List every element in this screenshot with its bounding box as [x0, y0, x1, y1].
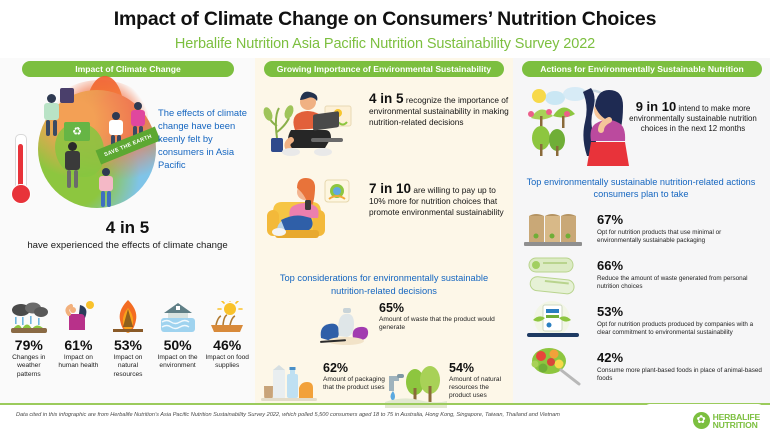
stat-value: 61% [54, 337, 104, 353]
paper-bags-icon [521, 208, 593, 250]
left-headline-subtext: have experienced the effects of climate … [0, 240, 255, 251]
water-tap-trees-icon [385, 362, 447, 408]
forest-fire-icon [103, 295, 153, 335]
action-item: 66% Reduce the amount of waste generated… [521, 254, 767, 296]
action-item: 42% Consume more plant-based foods in pl… [521, 346, 767, 388]
consideration-value: 62% [323, 362, 387, 375]
left-column: ♻ SAVE THE EARTH The effects o [0, 80, 255, 215]
consideration-item: 54% Amount of natural resources the prod… [385, 362, 511, 408]
stat-label: Impact on the environment [153, 354, 203, 371]
flooded-house-icon [153, 295, 203, 335]
stat-value: 46% [202, 337, 252, 353]
stat-label: Impact on natural resources [103, 354, 153, 379]
reusable-containers-icon [521, 254, 593, 296]
consideration-label: Amount of packaging that the product use… [323, 376, 387, 392]
infographic-page: Impact of Climate Change on Consumers’ N… [0, 0, 770, 440]
stat-item: 79% Changes in weather patterns [4, 295, 54, 379]
middle-statement-2: 7 in 10 are willing to pay up to 10% mor… [261, 172, 511, 252]
action-label: Consume more plant-based foods in place … [597, 367, 767, 383]
consideration-label: Amount of waste that the product would g… [379, 316, 505, 332]
waste-bags-icon [315, 302, 377, 348]
section-header-actions: Actions for Environmentally Sustainable … [522, 61, 762, 77]
consideration-item: 65% Amount of waste that the product wou… [315, 302, 505, 348]
action-value: 66% [597, 259, 767, 273]
stat-label: Impact on food supplies [202, 354, 252, 371]
stat-value: 53% [103, 337, 153, 353]
action-item: 53% Opt for nutrition products produced … [521, 300, 767, 342]
action-label: Opt for nutrition products produced by c… [597, 321, 767, 337]
section-header-growing-importance: Growing Importance of Environmental Sust… [264, 61, 504, 77]
left-column-blurb: The effects of climate change have been … [158, 106, 254, 171]
right-statement-text: 9 in 10 intend to make more environmenta… [625, 102, 761, 134]
person-with-laptop-icon [261, 82, 369, 162]
stat-value: 50% [153, 337, 203, 353]
footnote-text: Data cited in this infographic are from … [16, 411, 616, 419]
action-item: 67% Opt for nutrition products that use … [521, 208, 767, 250]
action-label: Reduce the amount of waste generated fro… [597, 275, 767, 291]
section-header-impact-of-climate-change: Impact of Climate Change [22, 61, 234, 77]
stat-item: 61% Impact on human health [54, 295, 104, 379]
middle-statement-1: 4 in 5 recognize the importance of envir… [261, 82, 511, 162]
stat-item: 53% Impact on natural resources [103, 295, 153, 379]
header: Impact of Climate Change on Consumers’ N… [0, 0, 770, 58]
herbalife-nutrition-logo: ✿ HERBALIFE NUTRITION [693, 412, 760, 429]
action-label: Opt for nutrition products that use mini… [597, 229, 767, 245]
stat-item: 50% Impact on the environment [153, 295, 203, 379]
packaging-bottles-icon [259, 362, 321, 408]
salad-bowl-icon [521, 346, 593, 388]
stat-item: 46% Impact on food supplies [202, 295, 252, 379]
action-value: 53% [597, 305, 767, 319]
stat-value: 79% [4, 337, 54, 353]
consideration-value: 65% [379, 302, 505, 315]
middle-statement-2-stat: 7 in 10 [369, 181, 411, 196]
eco-product-pack-icon [521, 300, 593, 342]
page-title: Impact of Climate Change on Consumers’ N… [0, 0, 770, 31]
stat-label: Impact on human health [54, 354, 104, 371]
middle-statement-1-text: 4 in 5 recognize the importance of envir… [369, 82, 511, 127]
thermometer-icon [10, 134, 30, 206]
recycle-sign-icon: ♻ [64, 122, 90, 141]
stat-label: Changes in weather patterns [4, 354, 54, 379]
herbalife-leaf-icon: ✿ [693, 412, 710, 429]
right-statement-stat: 9 in 10 [636, 99, 676, 114]
action-value: 67% [597, 213, 767, 227]
middle-statement-1-stat: 4 in 5 [369, 91, 404, 106]
storm-clouds-icon [4, 295, 54, 335]
dry-crops-sun-icon [202, 295, 252, 335]
left-headline-stat: 4 in 5 [0, 218, 255, 238]
action-value: 42% [597, 351, 767, 365]
logo-line-2: NUTRITION [713, 421, 760, 429]
person-heat-icon [54, 295, 104, 335]
consideration-value: 54% [449, 362, 511, 375]
person-on-sofa-phone-icon [261, 172, 369, 252]
page-subtitle: Herbalife Nutrition Asia Pacific Nutriti… [0, 31, 770, 52]
middle-statement-2-text: 7 in 10 are willing to pay up to 10% mor… [369, 172, 511, 217]
middle-subheading: Top considerations for environmentally s… [263, 272, 505, 297]
consideration-item: 62% Amount of packaging that the product… [259, 362, 387, 408]
right-subheading: Top environmentally sustainable nutritio… [515, 176, 767, 201]
climate-impact-stats-row: 79% Changes in weather patterns 61% Impa… [4, 295, 252, 379]
consideration-label: Amount of natural resources the product … [449, 376, 511, 401]
